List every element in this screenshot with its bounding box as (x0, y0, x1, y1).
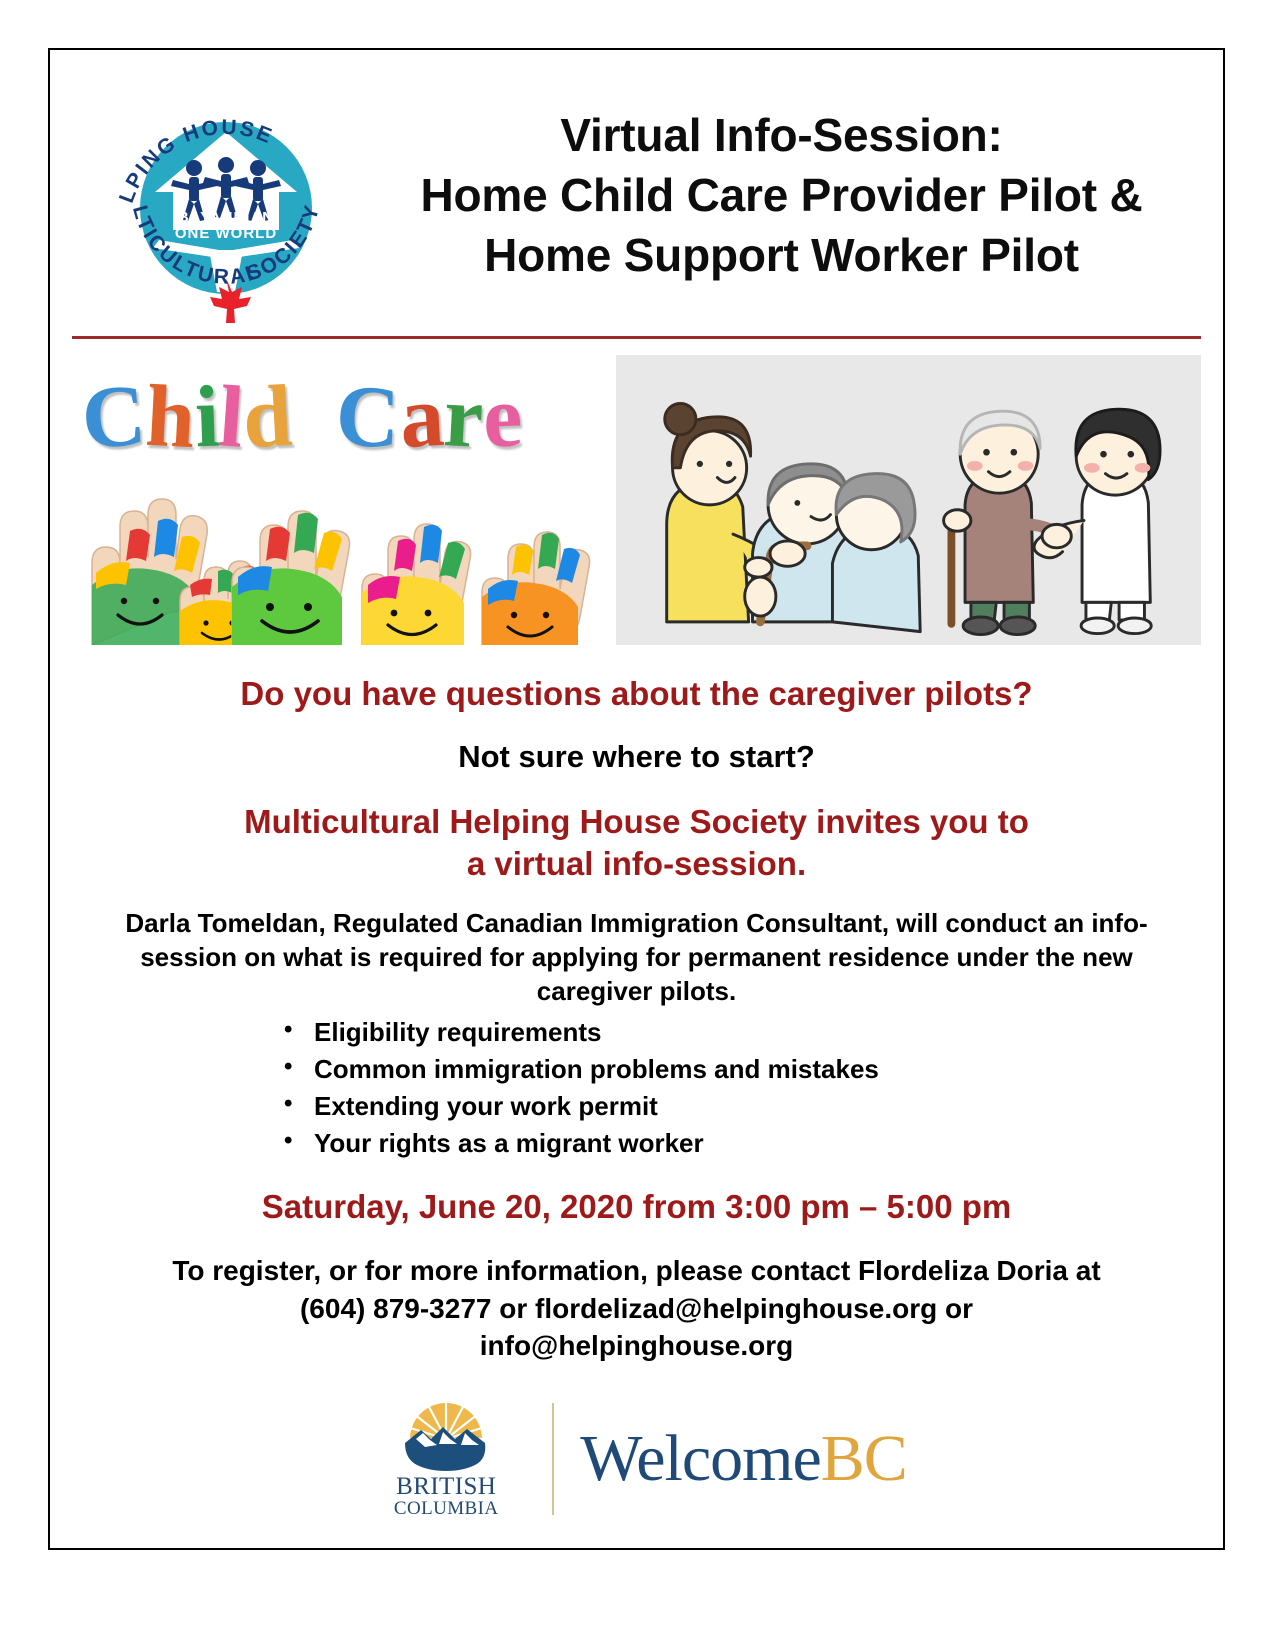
description-paragraph: Darla Tomeldan, Regulated Canadian Immig… (80, 907, 1193, 1008)
title-line-3: Home Support Worker Pilot (376, 226, 1187, 286)
bc-wordmark: BRITISH COLUMBIA (366, 1474, 526, 1519)
header-divider (72, 336, 1201, 339)
list-item: Eligibility requirements (280, 1014, 1193, 1051)
painted-hands-icon (72, 445, 612, 645)
invite-line-2: a virtual info-session. (80, 843, 1193, 885)
topics-list: Eligibility requirements Common immigrat… (80, 1014, 1193, 1162)
bc-word-line-2: COLUMBIA (366, 1499, 526, 1518)
page-title: Virtual Info-Session: Home Child Care Pr… (376, 64, 1197, 285)
bc-word-line-1: BRITISH (366, 1474, 526, 1500)
footer-logos: BRITISH COLUMBIA WelcomeBC (80, 1399, 1193, 1519)
contact-line-3: info@helpinghouse.org (90, 1327, 1183, 1365)
welcomebc-logo: WelcomeBC (580, 1426, 907, 1492)
event-datetime: Saturday, June 20, 2020 from 3:00 pm – 5… (80, 1188, 1193, 1226)
organization-logo-wrap: BAYANIHAN ONE WORLD HELPING HOUSE MULTIC… (76, 64, 376, 330)
list-item: Your rights as a migrant worker (280, 1125, 1193, 1162)
child-care-artwork: Child Care (72, 355, 612, 645)
logo-inner-line-1: BAYANIHAN (178, 209, 274, 226)
logo-inner-line-2: ONE WORLD (175, 225, 277, 242)
subquestion-heading: Not sure where to start? (80, 739, 1193, 775)
title-line-2: Home Child Care Provider Pilot & (376, 166, 1187, 226)
flyer-page: BAYANIHAN ONE WORLD HELPING HOUSE MULTIC… (48, 48, 1225, 1550)
question-heading: Do you have questions about the caregive… (80, 673, 1193, 715)
flyer-body: Do you have questions about the caregive… (50, 645, 1223, 1518)
british-columbia-logo: BRITISH COLUMBIA (366, 1399, 526, 1519)
contact-line-1: To register, or for more information, pl… (90, 1252, 1183, 1290)
invite-line-1: Multicultural Helping House Society invi… (80, 801, 1193, 843)
contact-block: To register, or for more information, pl… (80, 1252, 1193, 1365)
list-item: Extending your work permit (280, 1088, 1193, 1125)
title-line-1: Virtual Info-Session: (376, 106, 1187, 166)
invite-heading: Multicultural Helping House Society invi… (80, 801, 1193, 885)
artwork-strip: Child Care (72, 355, 1201, 645)
flyer-header: BAYANIHAN ONE WORLD HELPING HOUSE MULTIC… (50, 50, 1223, 330)
list-item: Common immigration problems and mistakes (280, 1051, 1193, 1088)
mhhs-logo-icon: BAYANIHAN ONE WORLD HELPING HOUSE MULTIC… (101, 80, 351, 330)
footer-divider (552, 1403, 554, 1515)
contact-line-2: (604) 879-3277 or flordelizad@helpinghou… (90, 1290, 1183, 1328)
bc-sun-mountain-icon (385, 1399, 507, 1473)
elder-care-artwork (616, 355, 1201, 645)
welcomebc-word-welcome: Welcome (580, 1422, 821, 1495)
welcomebc-word-bc: BC (821, 1422, 907, 1495)
